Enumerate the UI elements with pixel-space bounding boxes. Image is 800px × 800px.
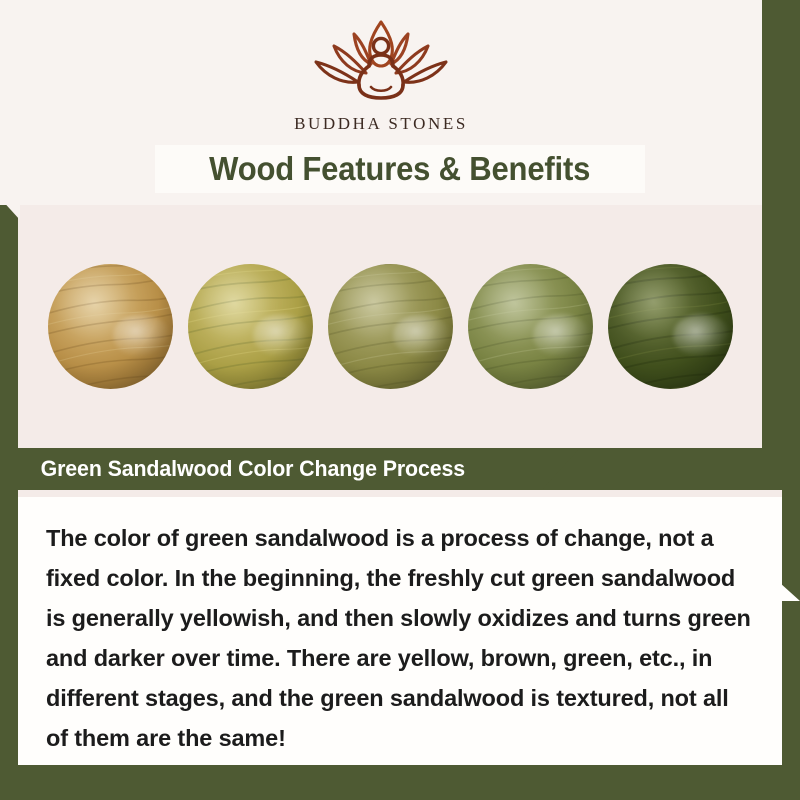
poster-root: BUDDHA STONES Wood Features & Benefits [0,0,800,800]
lotus-meditation-figure-icon [296,16,466,108]
bead-stage-4 [468,264,593,389]
bead-sphere-shading [608,264,733,389]
bead-stage-2 [188,264,313,389]
bead-stage-5 [608,264,733,389]
bead-color-stage-row [18,205,762,448]
page-title-banner: Wood Features & Benefits [155,145,645,193]
bead-sphere-shading [328,264,453,389]
brand-wordmark: BUDDHA STONES [294,114,468,134]
bead-sphere-shading [188,264,313,389]
bead-sphere-shading [48,264,173,389]
brand-logo: BUDDHA STONES [0,16,762,134]
page-title: Wood Features & Benefits [209,150,590,188]
bead-stage-1 [48,264,173,389]
body-paragraph: The color of green sandalwood is a proce… [46,518,752,758]
section-heading-text: Green Sandalwood Color Change Process [41,456,465,482]
bead-sphere-shading [468,264,593,389]
section-heading-banner: Green Sandalwood Color Change Process [18,448,580,490]
bead-stage-3 [328,264,453,389]
